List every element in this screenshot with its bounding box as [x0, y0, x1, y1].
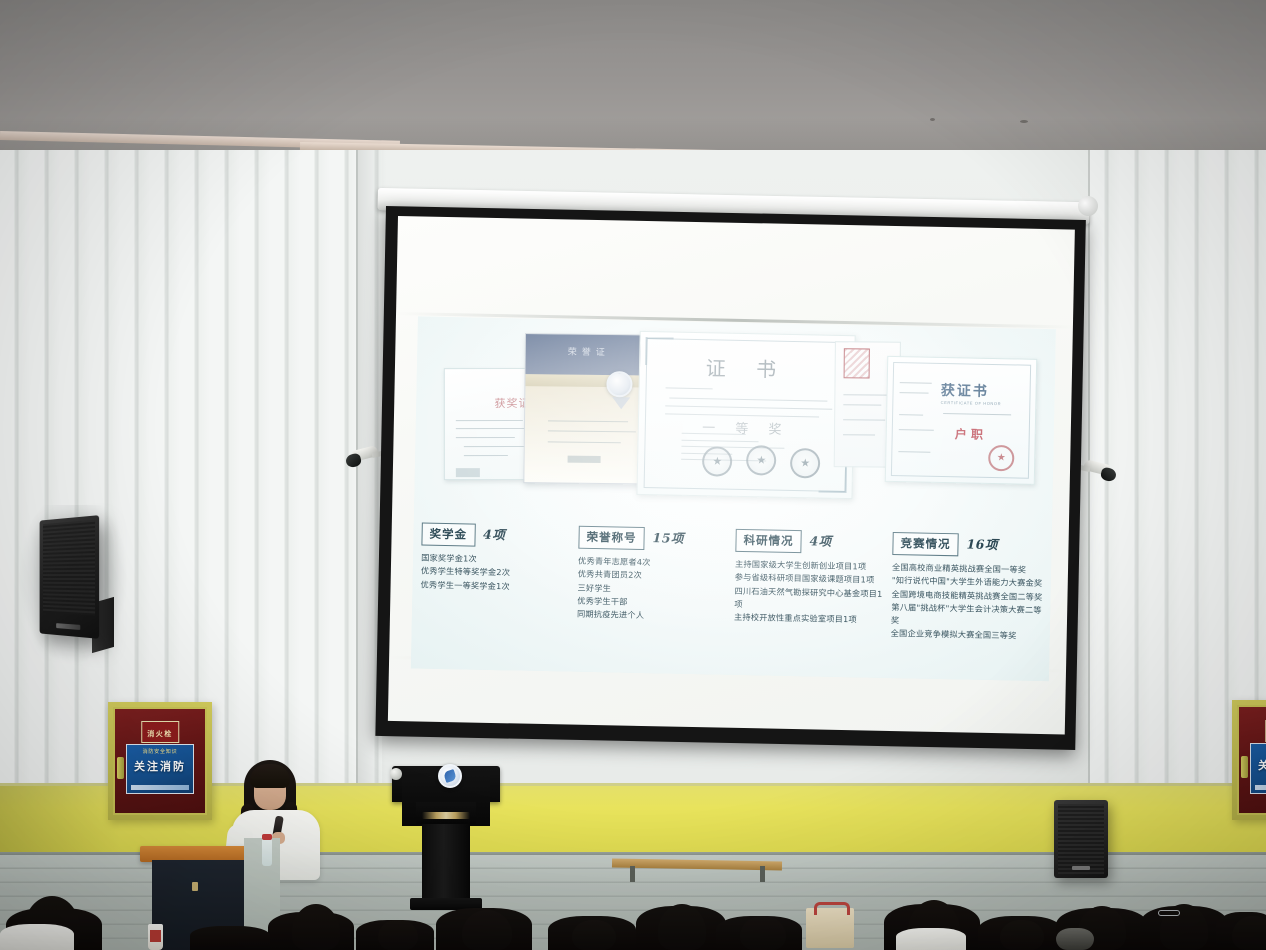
list-item: 优秀学生一等奖学金1次 — [420, 578, 571, 594]
official-seal-icon — [790, 448, 821, 479]
column-count: 4项 — [809, 530, 832, 549]
certificate-qualification: 获证书 CERTIFICATE OF HONOR 户 职 — [885, 356, 1037, 485]
official-seal-icon — [702, 447, 733, 478]
list-item: 同期抗疫先进个人 — [577, 608, 728, 624]
wall-seam — [1088, 150, 1090, 870]
ceiling-blemish — [1020, 120, 1028, 123]
projected-slide: 获奖证 荣誉证 — [411, 316, 1056, 681]
list-item: 全国企业竞争模拟大赛全国三等奖 — [891, 627, 1042, 643]
audience-member — [1056, 928, 1094, 950]
audience-member — [292, 904, 340, 950]
column-header: 奖学金 4项 — [421, 523, 572, 549]
achievement-columns: 奖学金 4项 国家奖学金1次 优秀学生特等奖学金2次 优秀学生一等奖学金1次 荣… — [419, 523, 1044, 675]
poster-title: 消防安全知识 — [143, 748, 178, 755]
fire-hydrant-label: 消火栓 — [147, 730, 173, 738]
column-count: 16项 — [966, 533, 998, 553]
fire-safety-poster: 消防安全知识 关注消防 — [126, 744, 194, 794]
audience-member — [190, 926, 270, 950]
column-list: 全国高校商业精英挑战赛全国一等奖 "知行说代中国"大学生外语能力大赛金奖 全国跨… — [891, 561, 1044, 644]
audience-member — [1000, 920, 1044, 950]
poster-footer-bar — [1255, 785, 1266, 790]
fire-safety-poster: 关注消防 — [1250, 743, 1266, 794]
fire-hydrant-sign: 消火栓 — [141, 721, 179, 743]
cabinet-handle[interactable] — [117, 757, 124, 779]
paper-bag — [806, 908, 854, 948]
column-competitions: 竞赛情况 16项 全国高校商业精英挑战赛全国一等奖 "知行说代中国"大学生外语能… — [890, 532, 1044, 675]
fire-hydrant-cabinet-left[interactable]: 消火栓 消防安全知识 关注消防 — [108, 702, 212, 820]
column-title: 奖学金 — [421, 523, 475, 547]
column-header: 竞赛情况 16项 — [892, 532, 1043, 558]
column-count: 4项 — [483, 524, 506, 543]
column-title: 科研情况 — [735, 529, 801, 553]
column-research: 科研情况 4项 主持国家级大学生创新创业项目1项 参与省级科研项目国家级课题项目… — [733, 529, 887, 672]
microphone-icon — [390, 768, 402, 780]
audience-member — [740, 916, 786, 950]
poster-headline: 关注消防 — [1258, 757, 1266, 773]
list-item: 第八届"挑战杯"大学生会计决策大赛二等奖 — [891, 601, 1043, 631]
column-list: 主持国家级大学生创新创业项目1项 参与省级科研项目国家级课题项目1项 四川石油天… — [734, 558, 886, 627]
certificate-seals — [702, 447, 831, 484]
eyeglasses-icon — [1158, 910, 1180, 916]
institution-emblem-icon — [438, 764, 462, 788]
wall-speaker — [40, 515, 99, 639]
projection-screen: 获奖证 荣誉证 — [388, 216, 1075, 734]
audience-member — [896, 928, 966, 950]
poster-footer-bar — [131, 785, 189, 790]
certificate-honor-blue: 荣誉证 — [523, 333, 653, 484]
fire-hydrant-cabinet-right[interactable]: 消火栓 关注消防 — [1232, 700, 1266, 820]
column-header: 荣誉称号 15项 — [578, 526, 729, 552]
column-header: 科研情况 4项 — [735, 529, 886, 555]
column-scholarship: 奖学金 4项 国家奖学金1次 优秀学生特等奖学金2次 优秀学生一等奖学金1次 — [419, 523, 573, 666]
column-honors: 荣誉称号 15项 优秀青年志愿者4次 优秀共青团员2次 三好学生 优秀学生干部 … — [576, 526, 730, 669]
security-camera-icon — [1082, 462, 1116, 482]
column-title: 荣誉称号 — [578, 526, 644, 550]
speaker-grille-icon — [43, 520, 95, 616]
security-camera-icon — [346, 448, 380, 468]
column-count: 15项 — [652, 527, 684, 547]
poster-headline: 关注消防 — [134, 758, 186, 774]
wall-seam — [356, 150, 358, 870]
lectern-gold-trim — [422, 812, 470, 819]
list-item: 四川石油天然气勘探研究中心基金项目1项 — [734, 584, 886, 614]
list-item: 主持校开放性重点实验室项目1项 — [734, 611, 885, 627]
certificate-award-level: 一 等 奖 — [702, 417, 790, 438]
cabinet-handle[interactable] — [1241, 756, 1248, 778]
audience-member — [0, 924, 74, 950]
speaker-logo — [56, 623, 80, 630]
column-list: 国家奖学金1次 优秀学生特等奖学金2次 优秀学生一等奖学金1次 — [420, 552, 572, 595]
column-title: 竞赛情况 — [892, 532, 958, 556]
ceiling-blemish — [930, 118, 935, 121]
presenter-fringe — [250, 764, 290, 788]
column-list: 优秀青年志愿者4次 优秀共青团员2次 三好学生 优秀学生干部 同期抗疫先进个人 — [577, 555, 729, 624]
audience-member — [1232, 916, 1266, 950]
auditorium-scene: 获奖证 荣誉证 — [0, 0, 1266, 950]
bottle-cap — [262, 834, 272, 840]
certificate-main: 证 书 一 等 奖 — [636, 331, 855, 499]
audience-member — [378, 920, 418, 950]
certificate-gallery: 获奖证 荣誉证 — [414, 320, 1056, 531]
audience-rows — [0, 862, 1266, 950]
audience-member — [572, 920, 616, 950]
official-seal-icon — [746, 445, 777, 476]
drink-cup — [148, 924, 163, 950]
